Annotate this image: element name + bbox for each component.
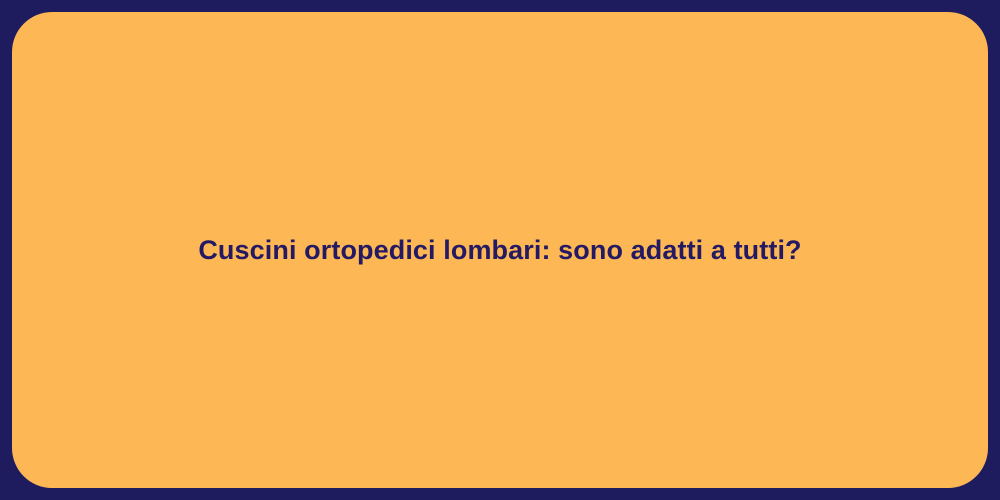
banner-frame: Cuscini ortopedici lombari: sono adatti … <box>0 0 1000 500</box>
page-title: Cuscini ortopedici lombari: sono adatti … <box>158 234 841 268</box>
banner-card: Cuscini ortopedici lombari: sono adatti … <box>12 12 988 488</box>
